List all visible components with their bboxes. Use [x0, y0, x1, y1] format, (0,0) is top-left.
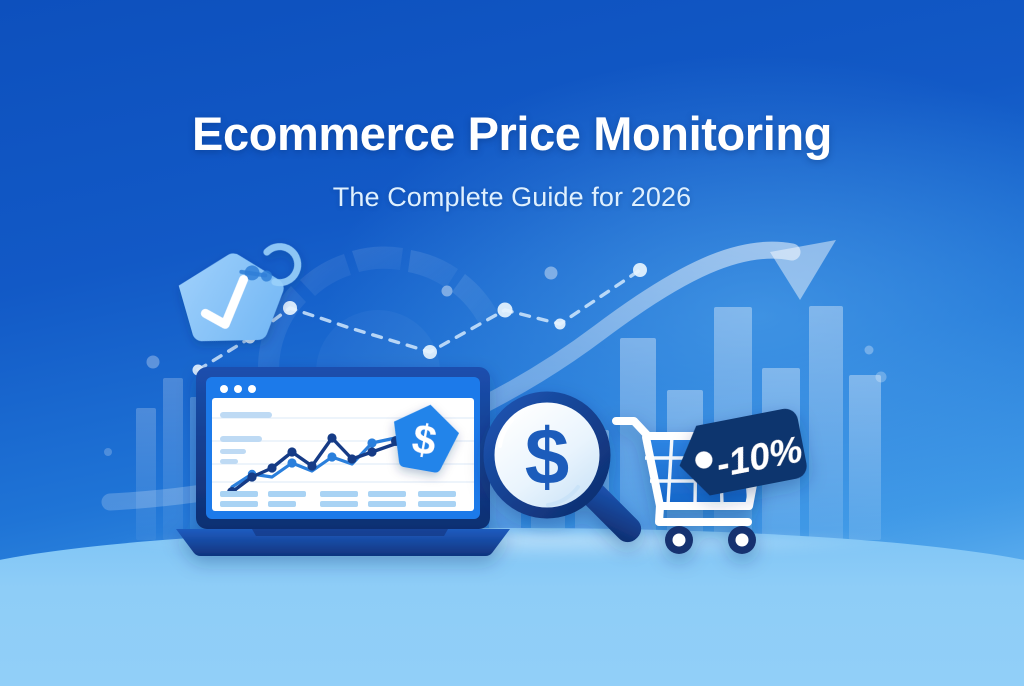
- page-subtitle: The Complete Guide for 2026: [0, 182, 1024, 213]
- page-title: Ecommerce Price Monitoring: [0, 108, 1024, 161]
- cart-wheels: [665, 526, 756, 554]
- laptop-illustration: [176, 367, 510, 556]
- window-dots: [220, 385, 256, 393]
- hero-banner: Ecommerce Price Monitoring The Complete …: [0, 0, 1024, 686]
- tag-check-icon: [174, 237, 315, 358]
- illustration-scene: $: [0, 0, 1024, 686]
- headings-block: Ecommerce Price Monitoring The Complete …: [0, 108, 1024, 213]
- magnifier-dollar-label: $: [525, 412, 570, 501]
